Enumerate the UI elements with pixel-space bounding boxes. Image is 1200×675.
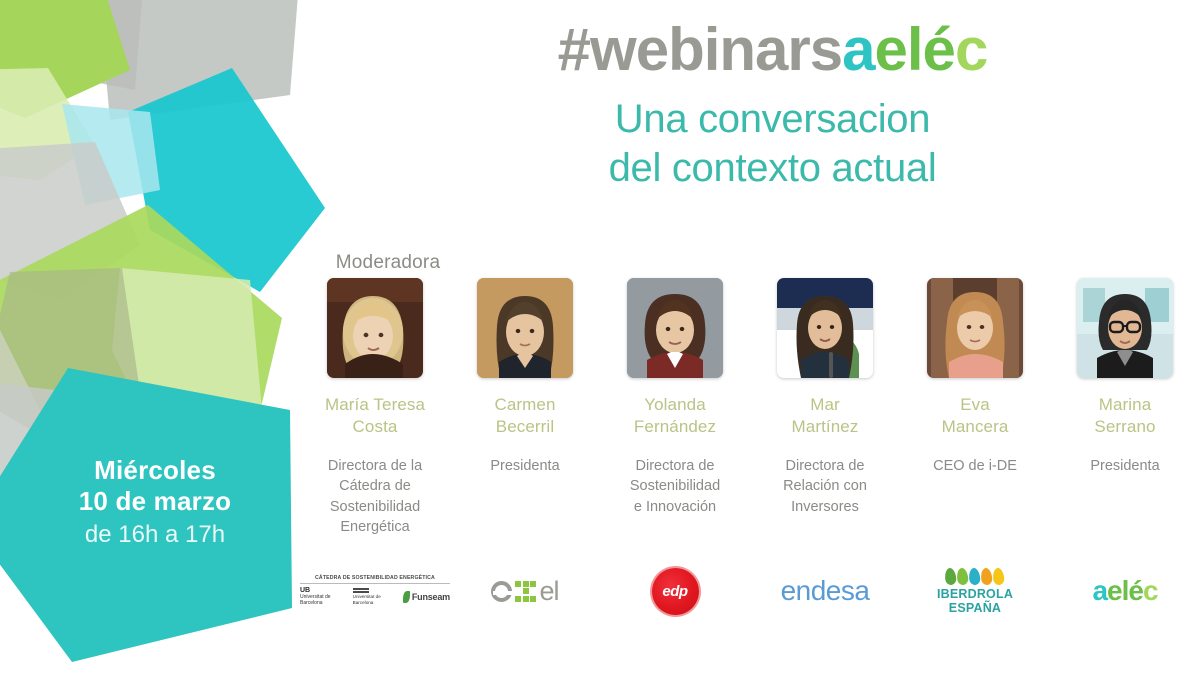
bcn-label: Universitat de Barcelona [353,594,381,605]
page-title: #webinarsaeléc [345,18,1200,81]
speaker-card-mar-martinez: Mar Martínez Directora de Relación con I… [750,278,900,517]
iberdrola-line-2: ESPAÑA [937,601,1013,615]
poster-header: #webinarsaeléc Una conversacion del cont… [345,18,1200,193]
speaker-card-maria-teresa-costa: María Teresa Costa Directora de la Cáted… [300,278,450,538]
speaker-role: Directora de Relación con Inversores [783,456,867,518]
moderator-label: Moderadora [318,252,458,274]
decorative-polygons [0,0,345,675]
funseam-label: Funseam [412,592,450,602]
speaker-card-marina-serrano: Marina Serrano Presidenta [1050,278,1200,476]
ub-sub: Universitat de Barcelona [300,594,331,606]
universitat-barcelona-mark: Universitat de Barcelona [353,588,381,605]
speaker-name: María Teresa Costa [325,394,425,438]
title-part-c: c [955,16,987,83]
omel-ring-icon [491,581,512,602]
title-part-webinars: #webinars [558,16,842,83]
sponsor-logo-row: CÁTEDRA DE SOSTENIBILIDAD ENERGÉTICA UB … [300,562,1200,620]
event-day: Miércoles [30,455,280,486]
edp-label: edp [662,583,687,600]
omel-grid-icon [515,581,536,602]
speaker-card-eva-mancera: Eva Mancera CEO de i-DE [900,278,1050,476]
title-part-ele: elé [875,16,955,83]
speaker-list: María Teresa Costa Directora de la Cáted… [300,278,1200,568]
page-subtitle: Una conversacion del contexto actual [345,95,1200,193]
iberdrola-line-1: IBERDROLA [937,587,1013,601]
aelec-part-a: a [1092,575,1107,606]
logo-aelec: aeléc [1050,562,1200,620]
subtitle-line-2: del contexto actual [345,144,1200,193]
catedra-title: CÁTEDRA DE SOSTENIBILIDAD ENERGÉTICA [300,575,450,584]
speaker-role: CEO de i-DE [933,456,1017,477]
speaker-name: Carmen Becerril [494,394,555,438]
event-time: de 16h a 17h [30,516,280,554]
logo-iberdrola-espana: IBERDROLA ESPAÑA [900,562,1050,620]
logo-catedra-sostenibilidad-energetica: CÁTEDRA DE SOSTENIBILIDAD ENERGÉTICA UB … [300,562,450,620]
event-datetime-block: Miércoles 10 de marzo de 16h a 17h [30,455,280,555]
speaker-role: Directora de Sostenibilidad e Innovación [630,456,720,518]
aelec-part-ele: elé [1107,575,1143,606]
endesa-label: endesa [781,577,870,605]
speaker-name: Yolanda Fernández [634,394,716,438]
leaf-icon [403,591,410,603]
speaker-card-yolanda-fernandez: Yolanda Fernández Directora de Sostenibi… [600,278,750,517]
poster-canvas: Miércoles 10 de marzo de 16h a 17h #webi… [0,0,1200,675]
aelec-part-c: c [1143,575,1158,606]
speaker-role: Presidenta [490,456,559,477]
logo-omel: el [450,562,600,620]
speaker-role: Presidenta [1090,456,1159,477]
avatar [327,278,423,378]
logo-edp: edp [600,562,750,620]
title-part-a: a [842,16,874,83]
ub-mark: UB Universitat de Barcelona [300,587,331,607]
speaker-name: Mar Martínez [792,394,859,438]
logo-endesa: endesa [750,562,900,620]
avatar [777,278,873,378]
avatar [627,278,723,378]
speaker-name: Eva Mancera [942,394,1009,438]
funseam-mark: Funseam [403,591,450,603]
iberdrola-drops-icon [937,568,1013,585]
avatar [927,278,1023,378]
avatar [1077,278,1173,378]
subtitle-line-1: Una conversacion [345,95,1200,144]
omel-label: el [539,578,558,605]
speaker-role: Directora de la Cátedra de Sostenibilida… [328,456,422,538]
event-date: 10 de marzo [30,486,280,517]
speaker-card-carmen-becerril: Carmen Becerril Presidenta [450,278,600,476]
avatar [477,278,573,378]
speaker-name: Marina Serrano [1094,394,1155,438]
